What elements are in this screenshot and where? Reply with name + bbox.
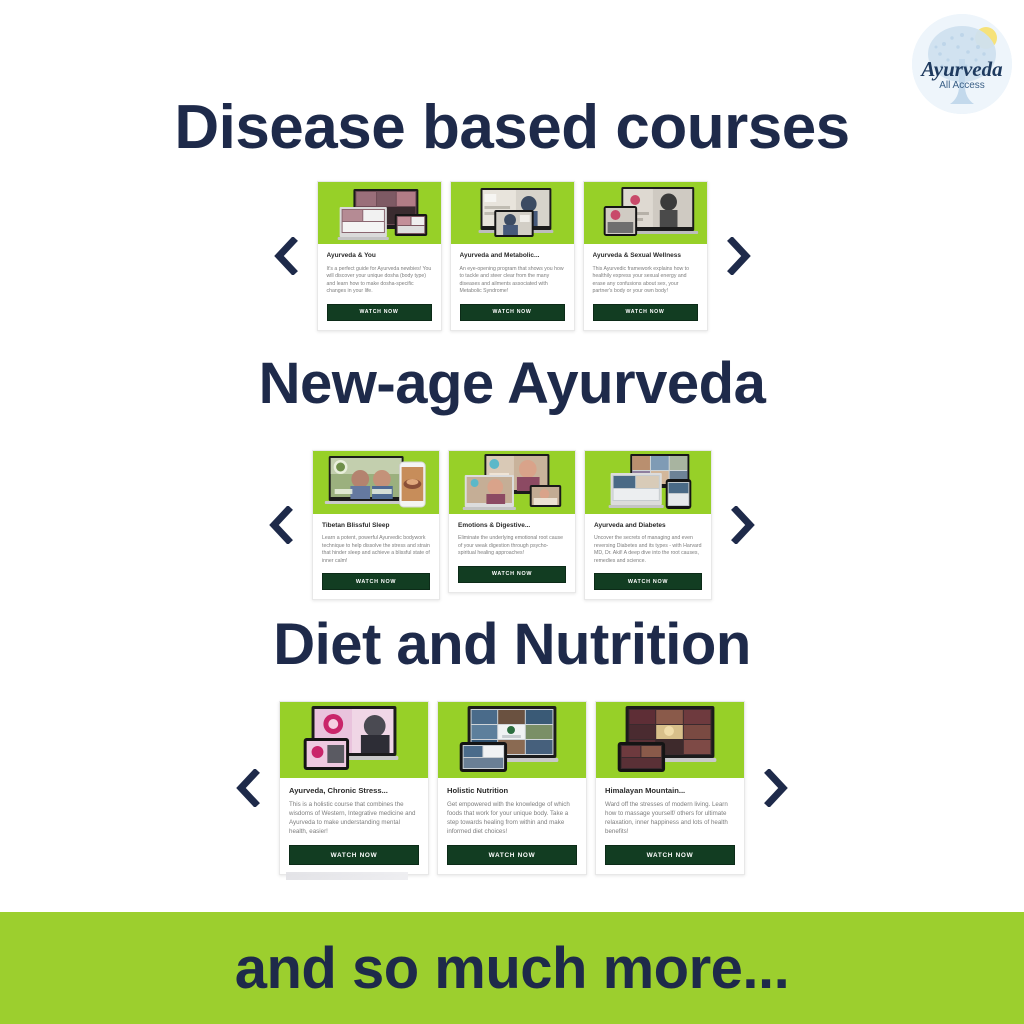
course-title: Ayurveda and Diabetes: [594, 522, 702, 530]
course-card-body: Ayurveda and Metabolic... An eye-opening…: [451, 244, 574, 330]
next-arrow-row-1[interactable]: [708, 237, 770, 275]
watch-now-button[interactable]: WATCH NOW: [327, 304, 432, 321]
section-title-new-age-ayurveda: New-age Ayurveda: [0, 350, 1024, 417]
watch-now-button[interactable]: WATCH NOW: [460, 304, 565, 321]
course-thumbnail-devices: [584, 182, 707, 244]
course-description: Learn a potent, powerful Ayurvedic bodyw…: [322, 535, 430, 565]
prev-arrow-row-1[interactable]: [255, 237, 317, 275]
course-card-body: Ayurveda and Diabetes Uncover the secret…: [585, 514, 711, 600]
card-list-row-1: Ayurveda & You It's a perfect guide for …: [317, 181, 708, 331]
course-thumbnail-devices: [438, 702, 586, 778]
course-thumbnail-devices: [280, 702, 428, 778]
watch-now-button[interactable]: WATCH NOW: [322, 573, 430, 590]
course-description: Uncover the secrets of managing and even…: [594, 535, 702, 565]
course-title: Tibetan Blissful Sleep: [322, 522, 430, 530]
course-card[interactable]: Ayurveda & You It's a perfect guide for …: [317, 181, 442, 331]
course-title: Ayurveda & You: [327, 252, 432, 260]
course-description: Eliminate the underlying emotional root …: [458, 535, 566, 558]
watch-now-button[interactable]: WATCH NOW: [447, 845, 577, 865]
carousel-row-diet-and-nutrition: Ayurveda, Chronic Stress... This is a ho…: [0, 688, 1024, 888]
course-description: It's a perfect guide for Ayurveda newbie…: [327, 266, 432, 296]
watch-now-button[interactable]: WATCH NOW: [289, 845, 419, 865]
watch-now-button[interactable]: WATCH NOW: [593, 304, 698, 321]
course-card[interactable]: Emotions & Digestive... Eliminate the un…: [448, 450, 576, 593]
watch-now-button[interactable]: WATCH NOW: [594, 573, 702, 590]
next-arrow-row-2[interactable]: [712, 506, 774, 544]
course-title: Ayurveda and Metabolic...: [460, 252, 565, 260]
watch-now-button[interactable]: WATCH NOW: [458, 566, 566, 583]
course-thumbnail-devices: [596, 702, 744, 778]
course-card-body: Himalayan Mountain... Ward off the stres…: [596, 778, 744, 874]
course-card-body: Emotions & Digestive... Eliminate the un…: [449, 514, 575, 592]
course-description: This is a holistic course that combines …: [289, 801, 419, 837]
course-description: This Ayurvedic framework explains how to…: [593, 266, 698, 296]
course-thumbnail-devices: [449, 451, 575, 514]
carousel-row-new-age-ayurveda: Tibetan Blissful Sleep Learn a potent, p…: [0, 437, 1024, 613]
course-description: An eye-opening program that shows you ho…: [460, 266, 565, 296]
course-title: Ayurveda, Chronic Stress...: [289, 786, 419, 795]
course-title: Holistic Nutrition: [447, 786, 577, 795]
course-card-body: Ayurveda & Sexual Wellness This Ayurvedi…: [584, 244, 707, 330]
course-thumbnail-devices: [313, 451, 439, 514]
course-card[interactable]: Holistic Nutrition Get empowered with th…: [437, 701, 587, 875]
course-title: Himalayan Mountain...: [605, 786, 735, 795]
course-card-body: Ayurveda, Chronic Stress... This is a ho…: [280, 778, 428, 874]
bottom-banner: and so much more...: [0, 912, 1024, 1024]
next-arrow-row-3[interactable]: [745, 769, 807, 807]
card-list-row-3: Ayurveda, Chronic Stress... This is a ho…: [279, 701, 745, 875]
card-list-row-2: Tibetan Blissful Sleep Learn a potent, p…: [312, 450, 712, 601]
course-description: Get empowered with the knowledge of whic…: [447, 801, 577, 837]
course-title: Ayurveda & Sexual Wellness: [593, 252, 698, 260]
course-description: Ward off the stresses of modern living. …: [605, 801, 735, 837]
carousel-row-disease-based-courses: Ayurveda & You It's a perfect guide for …: [0, 165, 1024, 347]
course-card[interactable]: Himalayan Mountain... Ward off the stres…: [595, 701, 745, 875]
page-edge-artifact: [286, 872, 408, 880]
logo-primary-text: Ayurveda: [919, 57, 1002, 81]
section-title-disease-based-courses: Disease based courses: [0, 92, 1024, 163]
course-card-body: Holistic Nutrition Get empowered with th…: [438, 778, 586, 874]
course-card-body: Tibetan Blissful Sleep Learn a potent, p…: [313, 514, 439, 600]
course-card[interactable]: Ayurveda and Diabetes Uncover the secret…: [584, 450, 712, 601]
course-thumbnail-devices: [451, 182, 574, 244]
prev-arrow-row-3[interactable]: [217, 769, 279, 807]
course-card[interactable]: Ayurveda, Chronic Stress... This is a ho…: [279, 701, 429, 875]
banner-text: and so much more...: [235, 935, 790, 1002]
logo-secondary-text: All Access: [939, 80, 985, 91]
prev-arrow-row-2[interactable]: [250, 506, 312, 544]
course-card[interactable]: Ayurveda & Sexual Wellness This Ayurvedi…: [583, 181, 708, 331]
section-title-diet-and-nutrition: Diet and Nutrition: [0, 611, 1024, 678]
course-card-body: Ayurveda & You It's a perfect guide for …: [318, 244, 441, 330]
course-card[interactable]: Ayurveda and Metabolic... An eye-opening…: [450, 181, 575, 331]
course-thumbnail-devices: [318, 182, 441, 244]
course-card[interactable]: Tibetan Blissful Sleep Learn a potent, p…: [312, 450, 440, 601]
course-thumbnail-devices: [585, 451, 711, 514]
watch-now-button[interactable]: WATCH NOW: [605, 845, 735, 865]
course-title: Emotions & Digestive...: [458, 522, 566, 530]
